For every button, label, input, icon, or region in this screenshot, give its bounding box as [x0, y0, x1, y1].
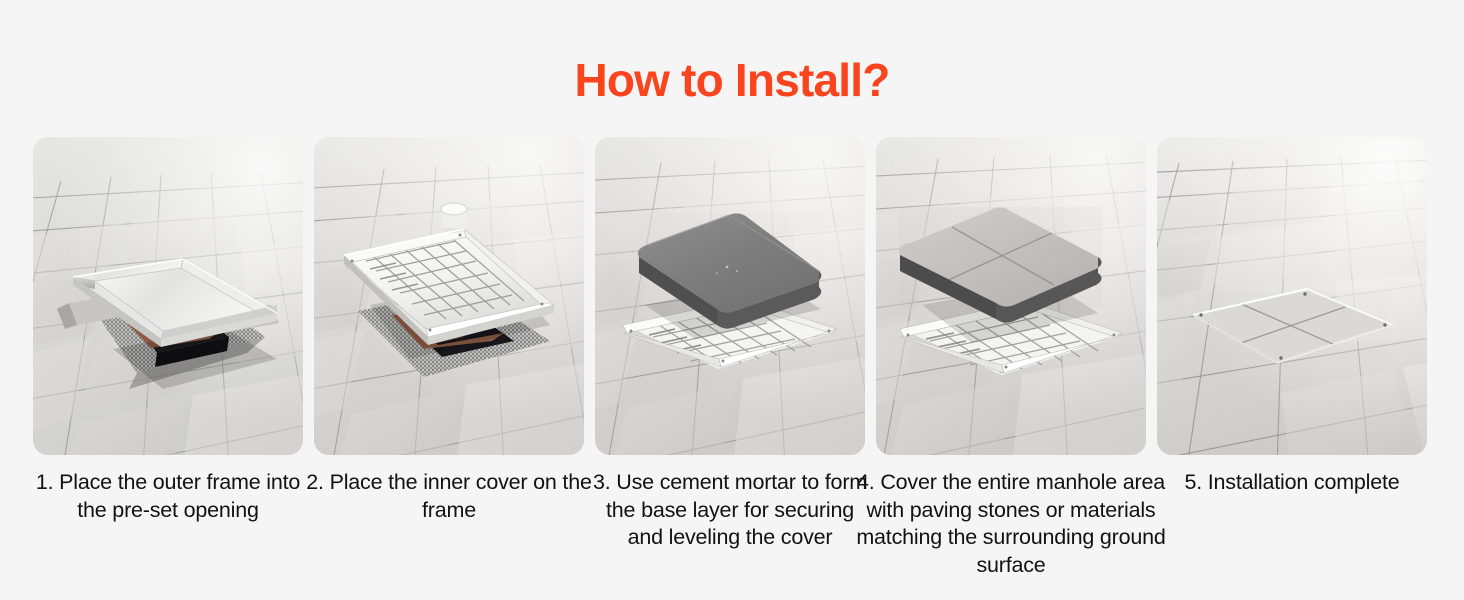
- step-1-illustration: [33, 137, 303, 455]
- install-step-5: 5. Installation complete: [1157, 137, 1427, 579]
- install-step-1-image[interactable]: [33, 137, 303, 455]
- page-title: How to Install?: [0, 52, 1464, 108]
- install-step-3-caption: 3. Use cement mortar to form the base la…: [590, 469, 870, 552]
- install-step-5-caption: 5. Installation complete: [1147, 469, 1437, 497]
- install-step-2-image[interactable]: [314, 137, 584, 455]
- how-to-install-infographic: How to Install?: [0, 0, 1464, 600]
- step-2-illustration: [314, 137, 584, 455]
- install-step-2: 2. Place the inner cover on the frame: [314, 137, 584, 579]
- install-step-3-image[interactable]: [595, 137, 865, 455]
- install-step-4-image[interactable]: [876, 137, 1146, 455]
- install-step-5-image[interactable]: [1157, 137, 1427, 455]
- step-5-illustration: [1157, 137, 1427, 455]
- install-step-4-caption: 4. Cover the entire manhole area with pa…: [856, 469, 1166, 579]
- install-steps-list: 1. Place the outer frame into the pre-se…: [33, 137, 1431, 579]
- install-step-1-caption: 1. Place the outer frame into the pre-se…: [23, 469, 313, 524]
- install-step-1: 1. Place the outer frame into the pre-se…: [33, 137, 303, 579]
- install-step-2-caption: 2. Place the inner cover on the frame: [304, 469, 594, 524]
- step-4-illustration: [876, 137, 1146, 455]
- install-step-3: 3. Use cement mortar to form the base la…: [595, 137, 865, 579]
- install-step-4: 4. Cover the entire manhole area with pa…: [876, 137, 1146, 579]
- step-3-illustration: [595, 137, 865, 455]
